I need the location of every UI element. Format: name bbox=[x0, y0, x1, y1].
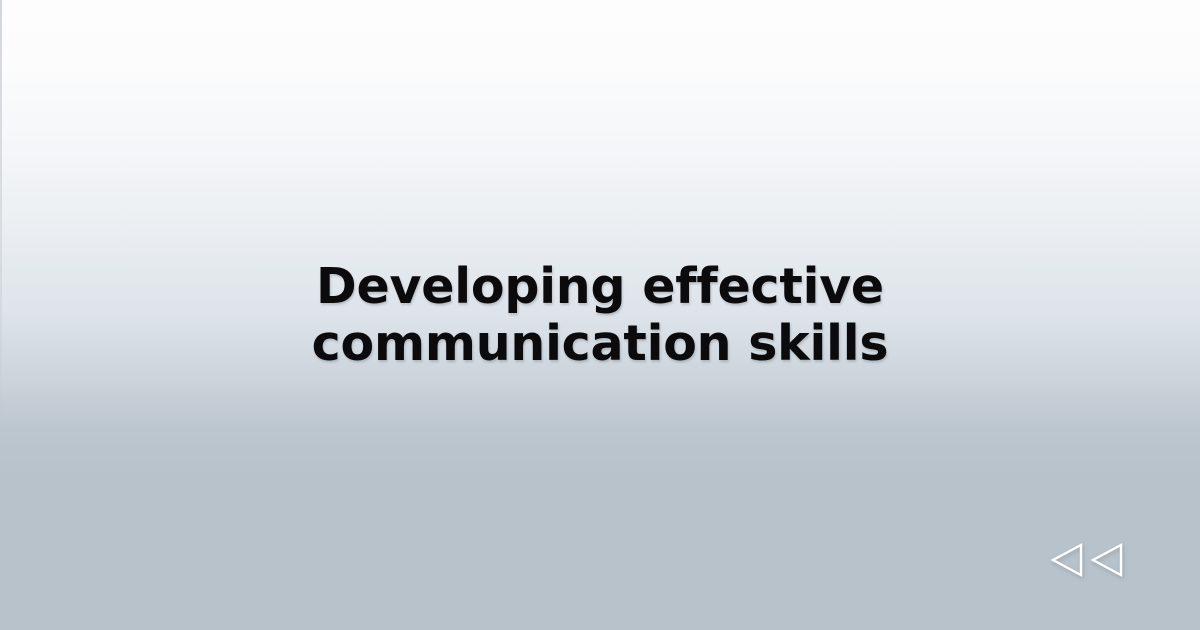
page-title: Developing effective communication skill… bbox=[100, 258, 1100, 373]
rewind-triangle-left-icon-1[interactable] bbox=[1050, 542, 1084, 578]
rewind-triangle-left-icon-2[interactable] bbox=[1090, 542, 1124, 578]
title-block: Developing effective communication skill… bbox=[0, 258, 1200, 373]
navigation-icons[interactable] bbox=[1050, 542, 1124, 578]
title-card: Developing effective communication skill… bbox=[0, 0, 1200, 630]
